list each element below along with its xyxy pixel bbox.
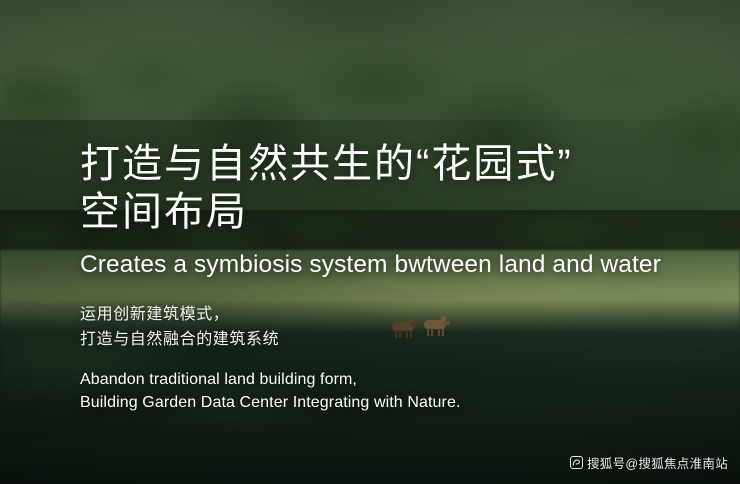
sohu-logo-icon bbox=[570, 456, 583, 469]
watermark: 搜狐号@搜狐焦点淮南站 bbox=[570, 453, 728, 472]
overlay-text-block: 打造与自然共生的“花园式” 空间布局 Creates a symbiosis s… bbox=[80, 140, 720, 414]
headline-chinese: 打造与自然共生的“花园式” 空间布局 bbox=[80, 140, 720, 236]
subtext-chinese: 运用创新建筑模式， 打造与自然融合的建筑系统 bbox=[80, 302, 720, 352]
watermark-text: 搜狐号@搜狐焦点淮南站 bbox=[587, 453, 728, 472]
subtext-english: Abandon traditional land building form, … bbox=[80, 368, 720, 414]
headline-english: Creates a symbiosis system bwtween land … bbox=[80, 250, 720, 280]
photo-slide: 打造与自然共生的“花园式” 空间布局 Creates a symbiosis s… bbox=[0, 0, 740, 484]
